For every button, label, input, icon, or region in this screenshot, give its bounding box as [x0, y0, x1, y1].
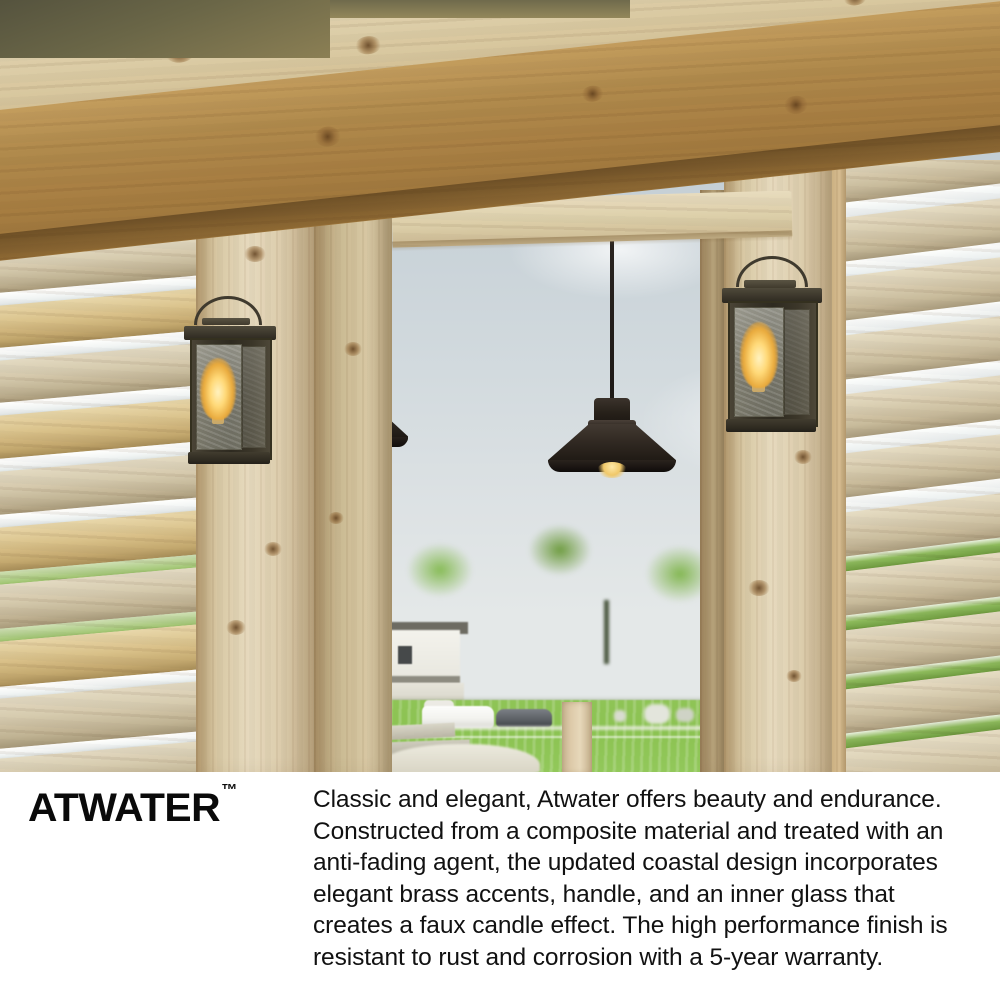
- atwater-wall-lantern-left: [176, 296, 286, 472]
- lamp-post-distant: [604, 600, 609, 664]
- lawn-object: [644, 704, 670, 724]
- dark-car: [496, 709, 552, 727]
- lantern-finial: [744, 280, 796, 288]
- trademark-symbol: ™: [221, 782, 237, 799]
- lantern-base: [188, 452, 270, 464]
- ceiling-shadow-band: [330, 0, 630, 18]
- product-detail-image: ATWATER™ Classic and elegant, Atwater of…: [0, 0, 1000, 1000]
- lantern-finial: [202, 318, 250, 325]
- fence-post: [562, 702, 592, 772]
- wood-grain: [314, 182, 392, 772]
- house-window: [398, 646, 412, 664]
- pendant-cord-center: [610, 222, 614, 404]
- product-hero-photo: [0, 0, 1000, 772]
- wood-grain: [724, 150, 832, 772]
- atwater-wall-lantern-right: [714, 256, 832, 436]
- wood-knot: [328, 512, 344, 524]
- lantern-glass-side: [784, 309, 810, 415]
- left-louvered-slat-wall: [0, 236, 196, 772]
- ceiling-shadow: [0, 0, 330, 58]
- right-louvered-slat-wall: [820, 160, 1000, 772]
- wood-knot: [264, 542, 282, 556]
- brand-wordmark: ATWATER™: [28, 788, 236, 828]
- lantern-glow: [740, 322, 778, 388]
- wood-grain: [820, 160, 1000, 772]
- wood-grain: [0, 236, 196, 772]
- wood-knot: [226, 620, 246, 635]
- wood-knot: [344, 342, 362, 356]
- lantern-base: [726, 419, 816, 432]
- lantern-glass-side: [242, 346, 266, 448]
- caption-panel: ATWATER™ Classic and elegant, Atwater of…: [0, 772, 1000, 1000]
- barn-pendant-bulb-center: [597, 462, 627, 478]
- product-description: Classic and elegant, Atwater offers beau…: [313, 784, 968, 973]
- lantern-glow: [200, 358, 236, 420]
- lawn-object: [614, 710, 626, 722]
- brand-name: ATWATER: [28, 786, 220, 830]
- wood-knot: [794, 450, 812, 464]
- pine-support-post-right: [724, 150, 832, 772]
- wood-knot: [748, 580, 770, 596]
- lawn-object: [676, 708, 694, 722]
- pine-support-post-left-inner: [314, 182, 392, 772]
- wood-knot: [244, 246, 266, 262]
- wood-knot: [786, 670, 802, 682]
